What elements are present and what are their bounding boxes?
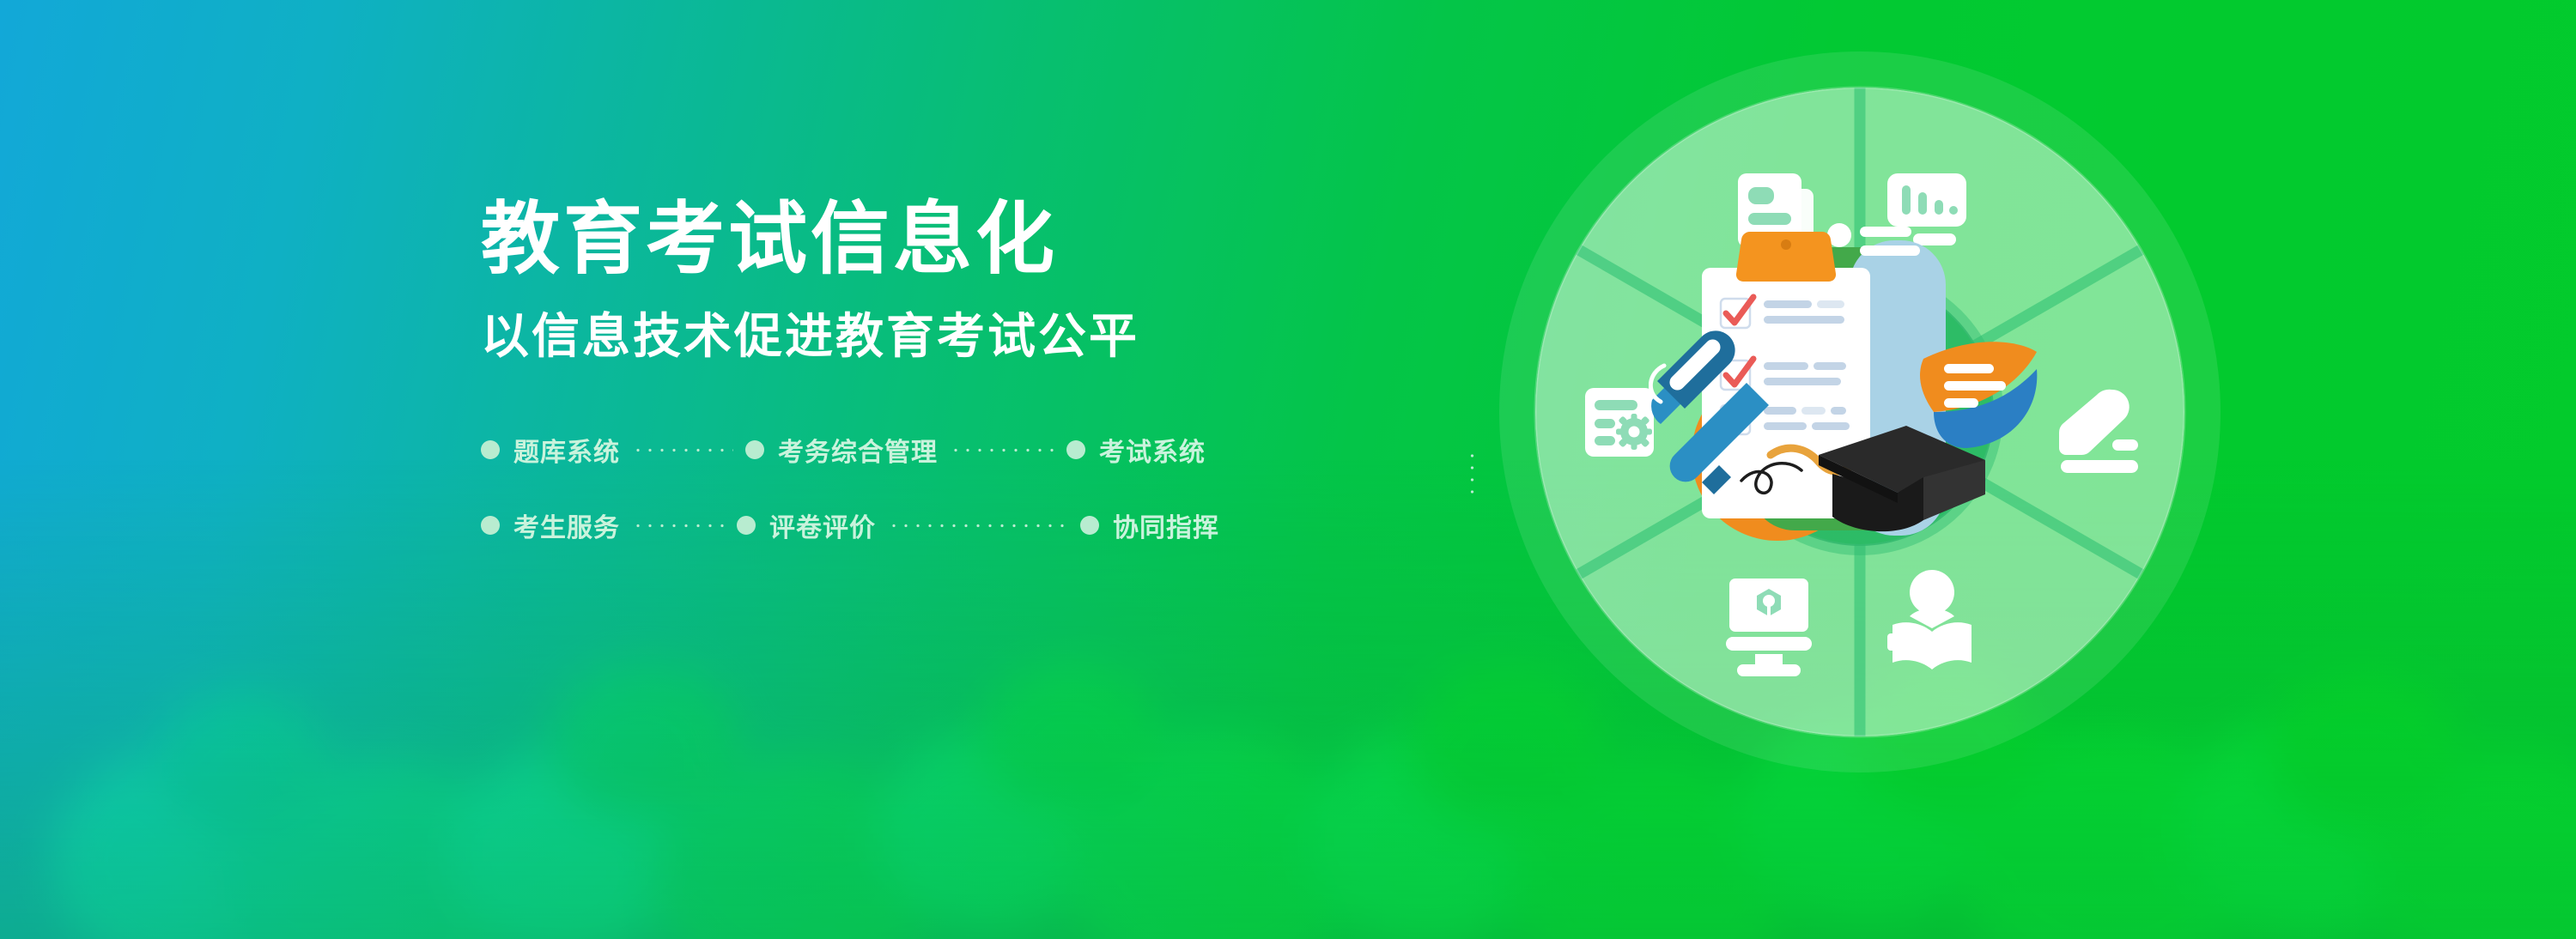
settings-form-icon[interactable]: [1585, 388, 1654, 457]
clipboard-checklist-illustration: [1649, 197, 2078, 609]
feature-item-marking[interactable]: 评卷评价: [737, 506, 876, 544]
clipboard-clip: [1736, 232, 1836, 282]
feature-item-exam-system[interactable]: 考试系统: [1066, 431, 1206, 469]
feature-label: 评卷评价: [769, 506, 876, 544]
bullet-dot-icon: [481, 440, 500, 459]
dotted-connector: [632, 448, 733, 452]
clip-hole: [1781, 239, 1791, 250]
feature-item-exam-admin[interactable]: 考务综合管理: [745, 431, 938, 469]
page-subtitle: 以信息技术促进教育考试公平: [481, 298, 1357, 367]
feature-item-candidate-service[interactable]: 考生服务: [481, 506, 620, 544]
feature-label: 考试系统: [1099, 431, 1206, 469]
feature-label: 考生服务: [513, 506, 620, 544]
feature-label: 题库系统: [513, 431, 620, 469]
dotted-connector: [632, 524, 725, 528]
dotted-connector: [950, 448, 1054, 452]
headline-block: 教育考试信息化 以信息技术促进教育考试公平 题库系统 考务综合管理 考试系统: [481, 196, 1357, 575]
feature-item-question-bank[interactable]: 题库系统: [481, 431, 620, 469]
bullet-dot-icon: [481, 516, 500, 535]
dotted-connector: [888, 524, 1068, 528]
banner-root: 教育考试信息化 以信息技术促进教育考试公平 题库系统 考务综合管理 考试系统: [0, 0, 2576, 939]
bullet-dot-icon: [1066, 440, 1085, 459]
feature-item-command[interactable]: 协同指挥: [1080, 506, 1219, 544]
feature-label: 协同指挥: [1113, 506, 1219, 544]
bullet-dot-icon: [1080, 516, 1099, 535]
feature-label: 考务综合管理: [778, 431, 938, 469]
page-title: 教育考试信息化: [481, 196, 1357, 284]
feature-row-1: 题库系统 考务综合管理 考试系统: [481, 424, 1357, 476]
bullet-dot-icon: [737, 516, 756, 535]
feature-list: 题库系统 考务综合管理 考试系统 考生服务: [481, 424, 1357, 551]
feature-row-2: 考生服务 评卷评价 协同指挥: [481, 500, 1357, 551]
dotted-connector-vertical: [1470, 450, 1474, 501]
bullet-dot-icon: [745, 440, 764, 459]
